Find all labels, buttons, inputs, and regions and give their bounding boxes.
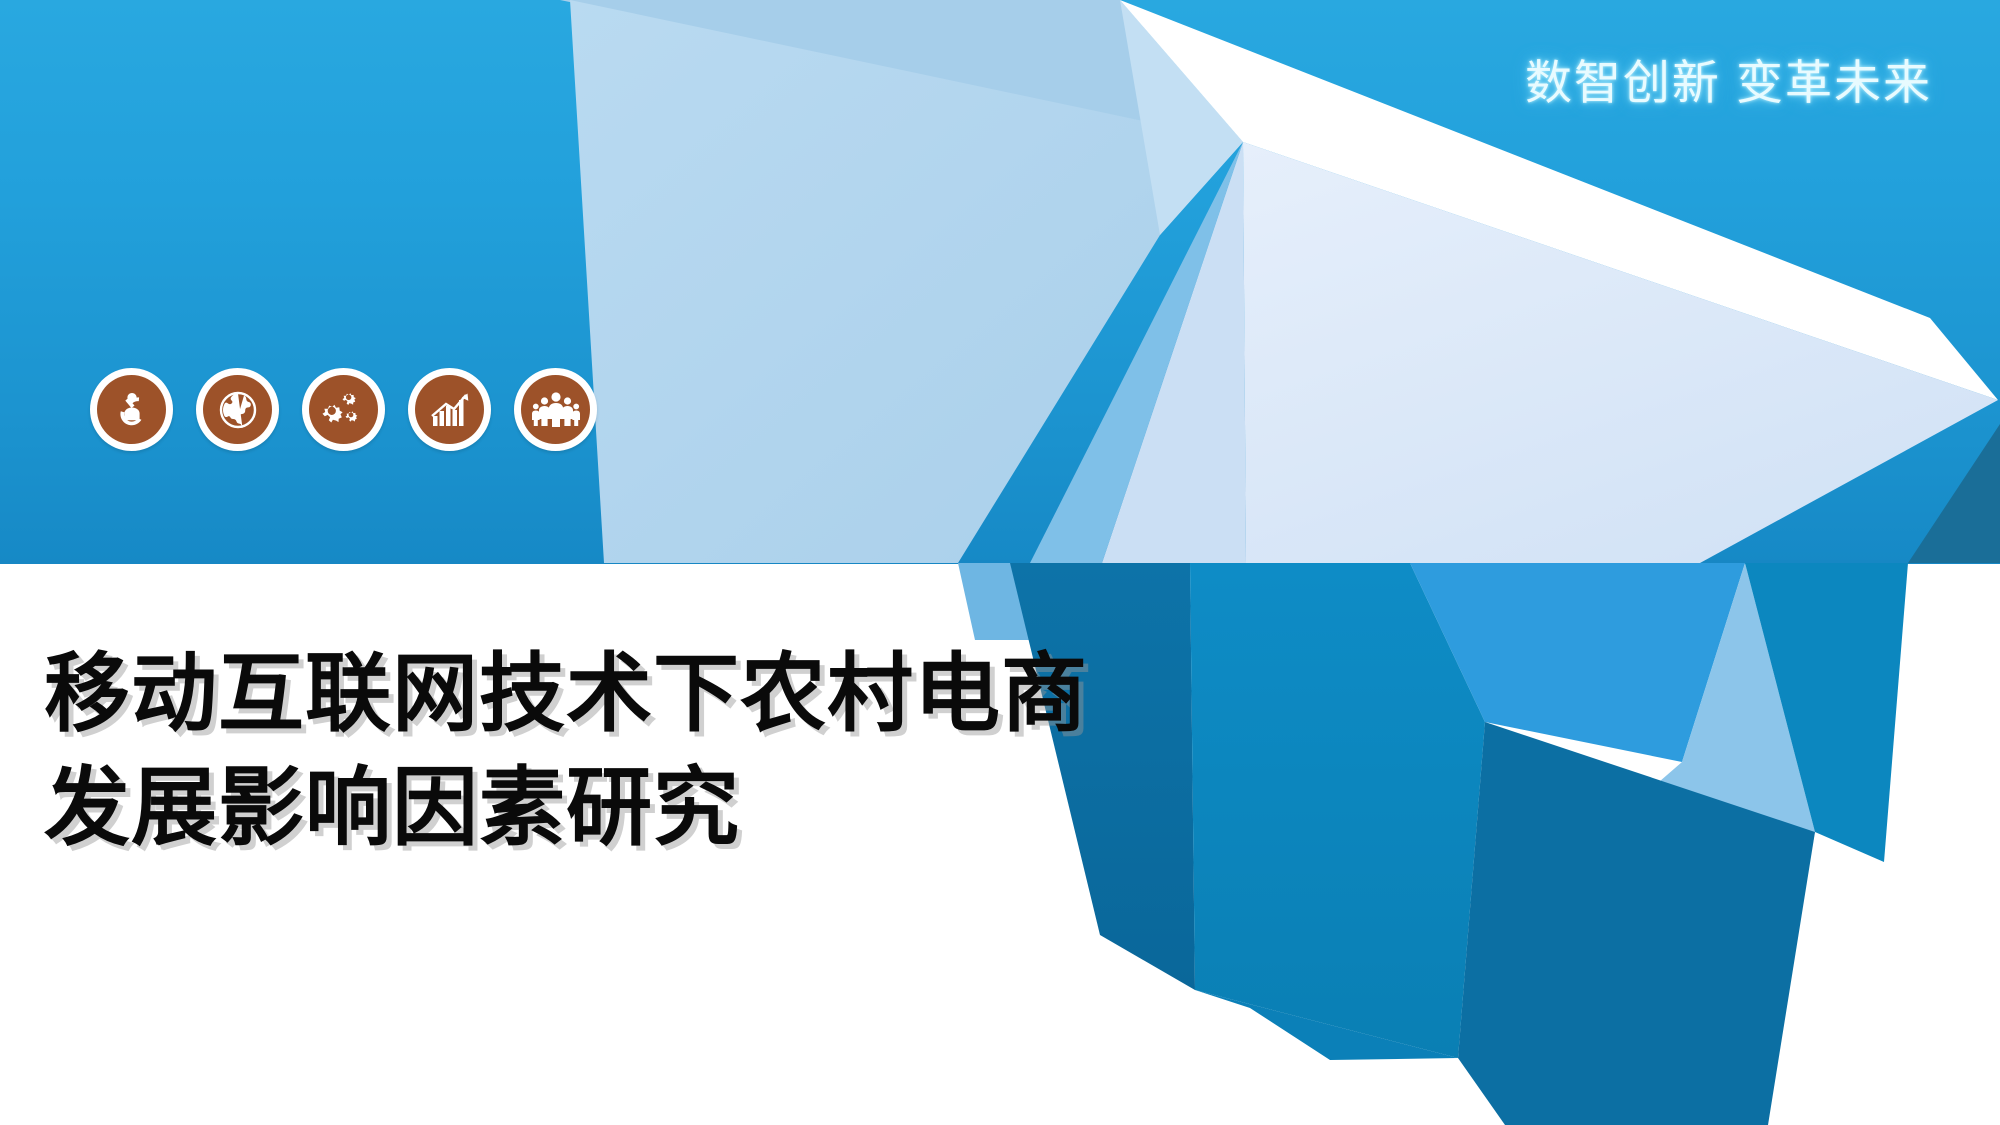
gears-icon — [320, 386, 368, 434]
people-group-icon — [532, 386, 580, 434]
title-line-2: 发展影响因素研究 — [44, 752, 1224, 866]
poly-mid-bottom-tip — [1195, 990, 1458, 1060]
tagline-text: 数智创新 变革未来 — [1525, 44, 1932, 113]
header-band-bottom-edge — [0, 560, 2000, 564]
poly-mid-left-block — [1190, 563, 1485, 1058]
slide-root: 数智创新 变革未来 — [0, 0, 2000, 1125]
page-title: 移动互联网技术下农村电商 发展影响因素研究 — [44, 638, 1224, 865]
icon-badge-bar-chart-growth[interactable] — [408, 368, 491, 451]
poly-deep-bottom-slab — [1458, 722, 1815, 1125]
globe-icon — [214, 386, 262, 434]
bar-chart-growth-icon — [426, 386, 474, 434]
icon-badge-person-refresh[interactable] — [90, 368, 173, 451]
icon-row — [90, 368, 597, 451]
poly-sky-right-wedge — [1532, 563, 1815, 1105]
poly-bright-center — [1410, 563, 1745, 762]
title-line-1: 移动互联网技术下农村电商 — [44, 638, 1224, 752]
poly-mid-right-block — [1745, 563, 1908, 862]
icon-badge-people-group[interactable] — [514, 368, 597, 451]
poly-sky-band-left — [958, 563, 1102, 640]
icon-badge-gears[interactable] — [302, 368, 385, 451]
icon-badge-globe[interactable] — [196, 368, 279, 451]
person-refresh-icon — [108, 386, 156, 434]
